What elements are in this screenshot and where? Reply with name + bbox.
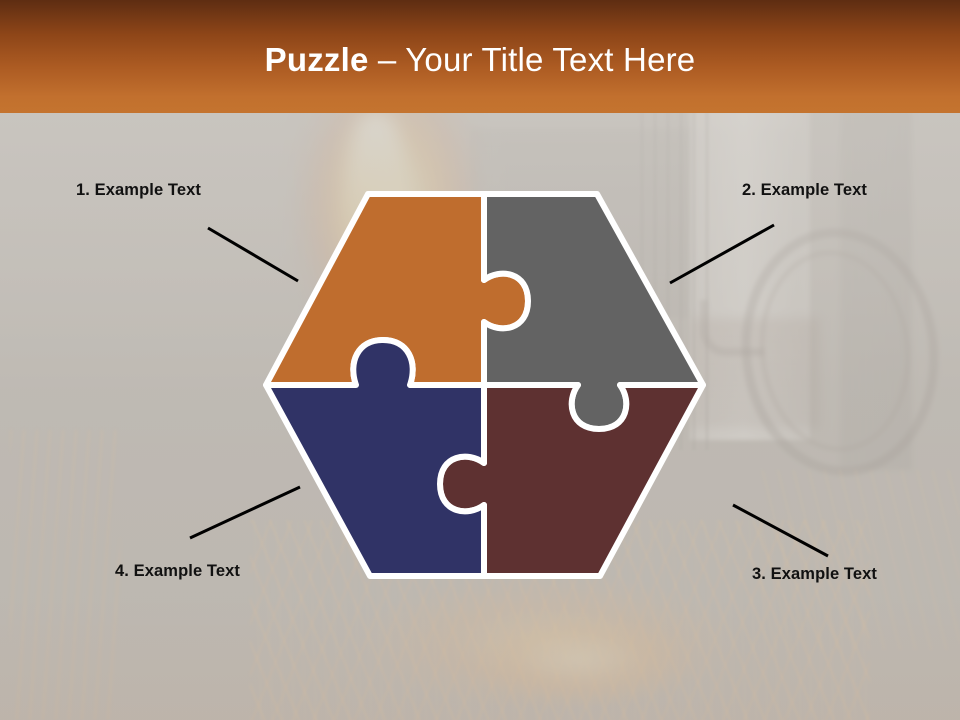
puzzle-diagram bbox=[0, 0, 960, 720]
leader-line-1 bbox=[208, 228, 298, 281]
callout-label-2[interactable]: 2. Example Text bbox=[742, 181, 867, 200]
callout-label-1[interactable]: 1. Example Text bbox=[76, 181, 201, 200]
callout-label-4[interactable]: 4. Example Text bbox=[115, 562, 240, 581]
slide-canvas: Puzzle – Your Title Text Here 1. Example… bbox=[0, 0, 960, 720]
callout-label-3[interactable]: 3. Example Text bbox=[752, 565, 877, 584]
leader-line-2 bbox=[670, 225, 774, 283]
leader-line-4 bbox=[190, 487, 300, 538]
leader-line-3 bbox=[733, 505, 828, 556]
